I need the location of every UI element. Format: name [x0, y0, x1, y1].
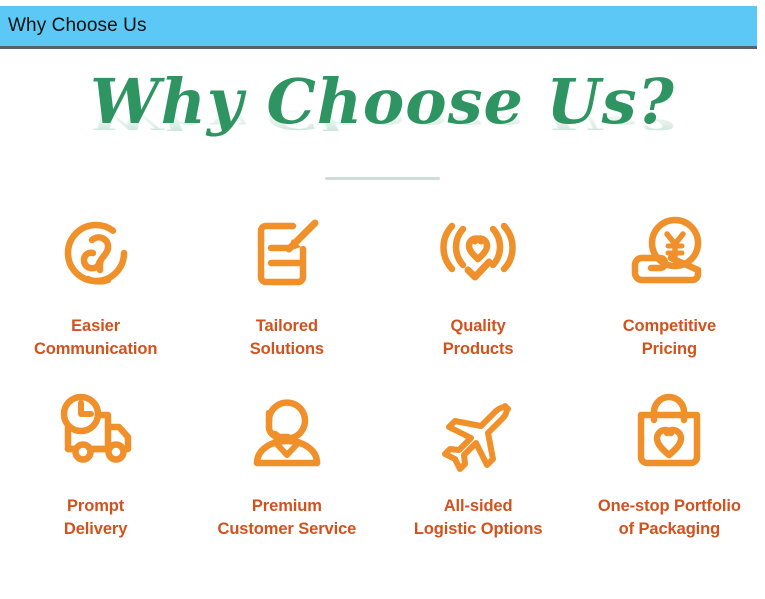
- feature-grid: Easier Communication Tailored Solutions: [0, 201, 765, 561]
- hero-section: Why Choose Us? Why Choose Us?: [0, 49, 765, 167]
- feature-item-easier-communication[interactable]: Easier Communication: [0, 201, 191, 381]
- feature-label: Prompt Delivery: [64, 495, 127, 541]
- feature-item-all-sided-logistic-options[interactable]: All-sided Logistic Options: [383, 381, 574, 561]
- feature-item-quality-products[interactable]: Quality Products: [383, 201, 574, 381]
- feature-item-one-stop-portfolio-of-packaging[interactable]: One-stop Portfolio of Packaging: [574, 381, 765, 561]
- feature-row-2: Prompt Delivery Premium Customer Service: [0, 381, 765, 561]
- window-titlebar: Why Choose Us: [0, 6, 757, 49]
- page-title: Why Choose Us?: [90, 49, 675, 133]
- feature-label: Competitive Pricing: [623, 315, 716, 361]
- divider-row: [0, 167, 765, 187]
- ear-listening-icon: [44, 201, 148, 305]
- document-pencil-icon: [235, 201, 339, 305]
- airplane-icon: [426, 381, 530, 485]
- feature-label: Tailored Solutions: [250, 315, 324, 361]
- feature-item-premium-customer-service[interactable]: Premium Customer Service: [191, 381, 382, 561]
- feature-label: Premium Customer Service: [218, 495, 357, 541]
- headset-agent-icon: [235, 381, 339, 485]
- feature-item-prompt-delivery[interactable]: Prompt Delivery: [0, 381, 191, 561]
- feature-row-1: Easier Communication Tailored Solutions: [0, 201, 765, 381]
- feature-item-competitive-pricing[interactable]: Competitive Pricing: [574, 201, 765, 381]
- feature-label: Easier Communication: [34, 315, 157, 361]
- shopping-bag-heart-icon: [617, 381, 721, 485]
- title-divider: [325, 177, 440, 180]
- heart-check-waves-icon: [426, 201, 530, 305]
- window-title: Why Choose Us: [8, 15, 147, 37]
- feature-label: One-stop Portfolio of Packaging: [598, 495, 741, 541]
- delivery-truck-clock-icon: [44, 381, 148, 485]
- feature-item-tailored-solutions[interactable]: Tailored Solutions: [191, 201, 382, 381]
- hand-yen-coin-icon: [617, 201, 721, 305]
- feature-label: All-sided Logistic Options: [414, 495, 543, 541]
- feature-label: Quality Products: [443, 315, 514, 361]
- titlebar-container: Why Choose Us: [0, 0, 765, 49]
